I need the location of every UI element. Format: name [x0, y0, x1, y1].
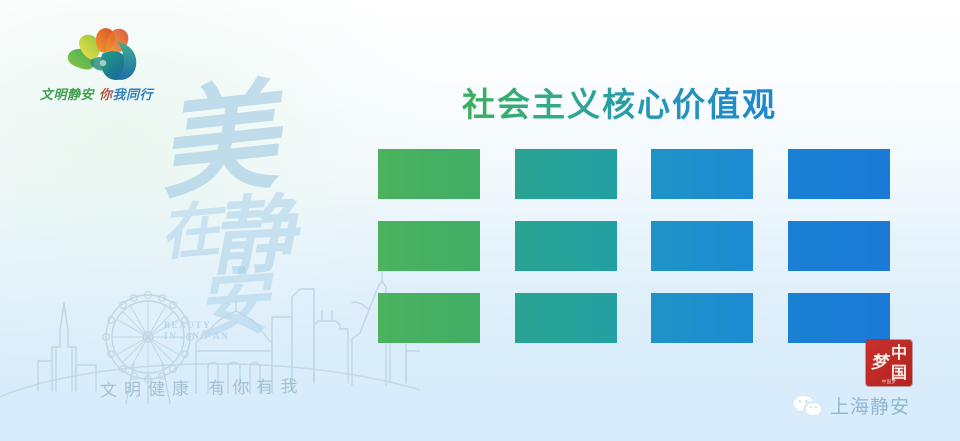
value-row: 富强 民主 文明 和谐	[378, 138, 890, 210]
china-dream-seal: 梦 中 国 中国梦	[866, 340, 912, 386]
value-word: 公正	[651, 221, 753, 271]
jingan-butterfly-logo-icon	[58, 22, 154, 84]
value-row: 自由 平等 公正 法治	[378, 210, 890, 282]
seal-character-grid: 梦 中 国	[869, 343, 909, 383]
core-values-list: 富强 民主 文明 和谐 自由 平等 公正 法治 爱国 敬业 诚信 友善	[378, 138, 898, 354]
seal-column-right: 中 国	[889, 343, 909, 383]
jingan-logo-block: 文明静安 你我同行	[40, 22, 172, 114]
value-word: 友善	[788, 293, 890, 343]
logo-tagline: 文明静安 你我同行	[40, 84, 172, 103]
seal-column-left: 梦	[869, 343, 889, 383]
seal-subtitle: 中国梦	[866, 379, 912, 385]
jingan-city-skyline-silhouette	[0, 251, 420, 441]
skyline-slogan: 文明健康 有你有我	[100, 372, 305, 401]
value-word: 敬业	[515, 293, 617, 343]
value-row: 爱国 敬业 诚信 友善	[378, 282, 890, 354]
value-word: 富强	[378, 149, 480, 199]
value-word: 诚信	[651, 293, 753, 343]
wechat-account-name: 上海静安	[830, 392, 910, 419]
value-word: 爱国	[378, 293, 480, 343]
wechat-attribution: 上海静安	[792, 392, 910, 419]
value-word: 和谐	[788, 149, 890, 199]
value-word: 平等	[515, 221, 617, 271]
seal-char-meng: 梦	[869, 343, 889, 383]
page-title: 社会主义核心价值观	[462, 78, 777, 126]
value-word: 民主	[515, 149, 617, 199]
seal-char-zhong: 中	[889, 343, 909, 363]
value-word: 文明	[651, 149, 753, 199]
value-word: 自由	[378, 221, 480, 271]
wechat-icon	[792, 394, 822, 418]
banner-root: 文明静安 你我同行 美 在 静 安 BEAUTY IN JING'AN	[0, 0, 960, 441]
value-word: 法治	[788, 221, 890, 271]
